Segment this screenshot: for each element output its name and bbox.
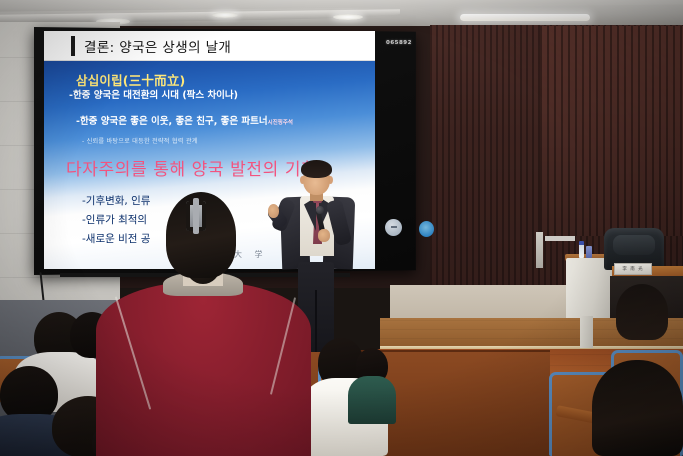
slide-footer-logo: 大 学: [234, 249, 268, 260]
slide-title-accent-bar: [71, 36, 75, 56]
audience-torso: [348, 376, 396, 424]
light-strip-right-icon: [460, 14, 590, 21]
stage-rail-post: [536, 232, 543, 268]
slide-bullet-3: -새로운 비전 공: [82, 231, 150, 246]
hair-clip-icon: [186, 201, 206, 231]
water-bottle-1: [579, 244, 584, 258]
foreground-person-jacket: [96, 282, 311, 456]
wall-right-panel: [540, 26, 683, 236]
blue-circle-reflection-icon: [419, 221, 434, 237]
slide-bullet-2: -인류가 최적의: [82, 212, 147, 227]
downlight-3-icon: [333, 14, 363, 20]
display-corner-code: 065892: [386, 40, 412, 46]
water-bottle-1-cap: [579, 241, 584, 245]
speaker-hand-left-gesturing: [268, 204, 279, 218]
audience-head: [616, 284, 668, 340]
water-bottle-2: [586, 246, 592, 258]
audience-head: [592, 360, 683, 456]
slide-line-small: - 신뢰를 바탕으로 대등한 전략적 협력 관계: [82, 136, 198, 145]
speaker-hair: [301, 160, 332, 178]
slide-line-pink-headline: 다자주의를 통해 양국 발전의 기회: [66, 155, 317, 180]
nameplate-text: 李 南 光: [622, 266, 643, 272]
slide-title: 결론: 양국은 상생의 날개: [84, 36, 231, 56]
slide-line-white-2-attribution: 시진핑주석: [268, 120, 293, 126]
slide-line-white-1: -한중 양국은 대전환의 시대 (팍스 차이나): [69, 87, 238, 101]
slide-bullet-1: -기후변화, 인류: [82, 193, 150, 208]
microphone-capsule-icon: [316, 206, 324, 214]
slide-line-white-2-text: -한중 양국은 좋은 이웃, 좋은 친구, 좋은 파트너: [76, 116, 268, 127]
wall-clock-reflection-icon: [385, 219, 402, 236]
podium-pedestal: [580, 316, 593, 348]
slide-line-white-2: -한중 양국은 좋은 이웃, 좋은 친구, 좋은 파트너시진핑주석: [76, 113, 293, 127]
slide-title-band: 결론: 양국은 상생의 날개: [44, 31, 375, 61]
nameplate: 李 南 光: [614, 263, 652, 275]
speaker-hand-right-holding-mic: [318, 229, 330, 242]
downlight-2-icon: [212, 12, 238, 18]
speaker-trouser-seam: [315, 290, 317, 352]
photo-scene: 결론: 양국은 상생의 날개 삼십이립(三十而立) -한중 양국은 대전환의 시…: [0, 0, 683, 456]
